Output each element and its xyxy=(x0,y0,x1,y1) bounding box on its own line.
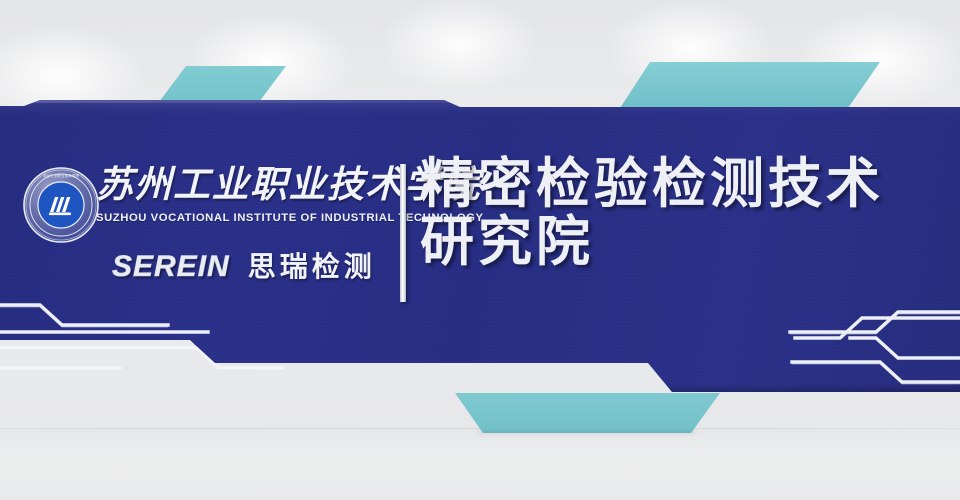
teal-plate-bottom-shadow xyxy=(478,431,696,435)
signage-scene: 苏州工业职业技术学院 苏州工业职业技术学院 SUZHOU VOCATIONAL … xyxy=(0,0,960,500)
page-title-line-2: 研究院 xyxy=(420,213,950,271)
page-title-line-1: 精密检验检测技术 xyxy=(420,155,950,213)
partner-brand: SEREIN 思瑞检测 xyxy=(112,252,376,282)
floor-surface xyxy=(0,429,960,500)
teal-plate-top-middle xyxy=(620,62,880,108)
vertical-rule xyxy=(400,164,406,302)
suzhou-vocational-institute-emblem-icon: 苏州工业职业技术学院 xyxy=(22,166,100,244)
partner-brand-latin: SEREIN xyxy=(112,252,230,282)
teal-plate-bottom xyxy=(455,393,720,433)
page-title: 精密检验检测技术 研究院 xyxy=(420,155,950,272)
svg-text:苏州工业职业技术学院: 苏州工业职业技术学院 xyxy=(43,173,79,178)
partner-brand-cn: 思瑞检测 xyxy=(248,253,376,281)
